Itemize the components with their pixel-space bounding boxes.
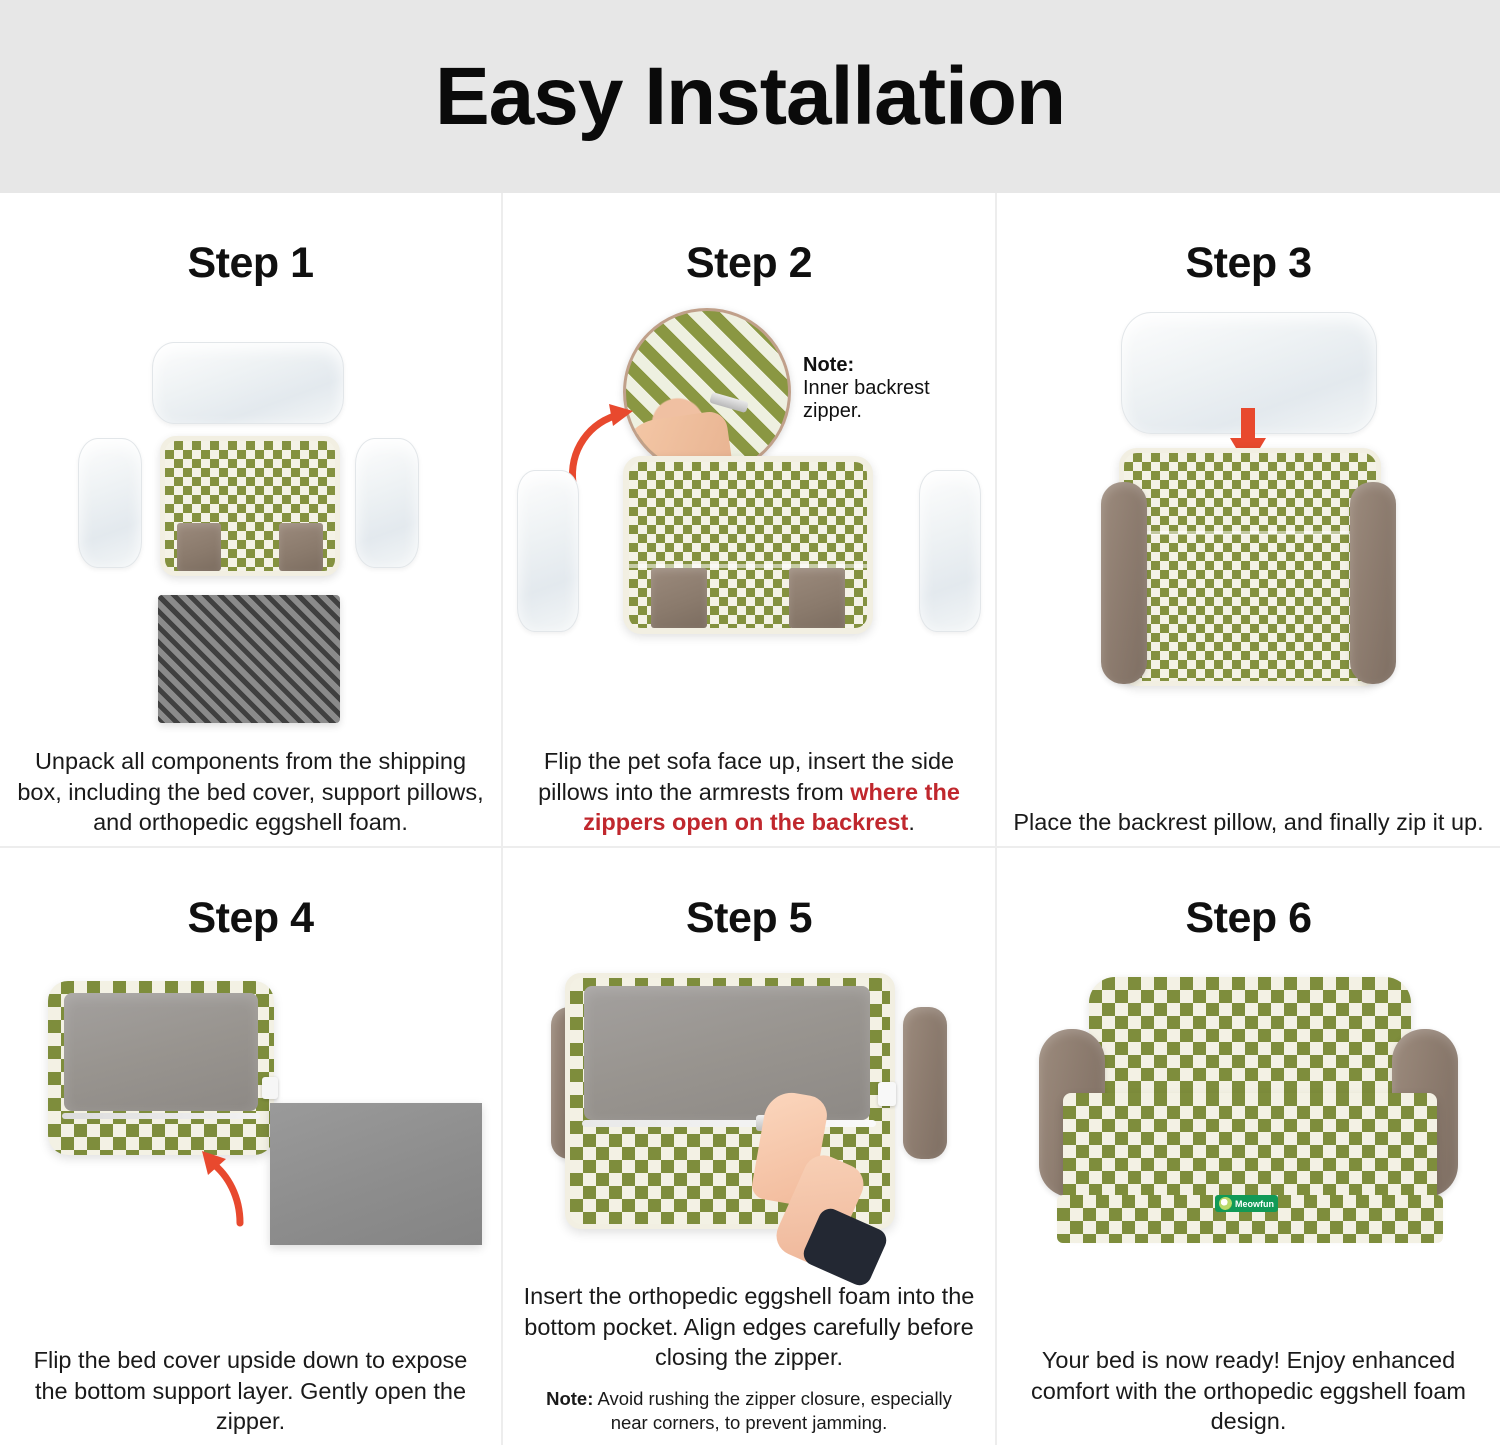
step-5-caption: Insert the orthopedic eggshell foam into…: [503, 1281, 995, 1381]
pocket-left: [651, 568, 707, 628]
step-5-note-label: Note:: [546, 1388, 593, 1409]
step-2-title: Step 2: [686, 239, 812, 288]
zipper-track: [582, 1120, 876, 1127]
step-1-illustration: [0, 288, 501, 746]
armrest-left: [1101, 482, 1147, 684]
step-1-caption: Unpack all components from the shipping …: [0, 746, 501, 846]
zipper-line: [62, 1113, 260, 1119]
step-4-caption: Flip the bed cover upside down to expose…: [0, 1345, 501, 1445]
step-5-title: Step 5: [686, 894, 812, 943]
step-4-title: Step 4: [187, 894, 313, 943]
note-callout-text: Note: Inner backrest zipper.: [803, 354, 993, 423]
armrest-right: [1350, 482, 1396, 684]
pocket-left: [177, 523, 221, 571]
backrest-pillow: [152, 342, 344, 424]
note-body: Inner backrest zipper.: [803, 377, 993, 423]
finished-backrest: [1089, 977, 1411, 1095]
side-pillow-right: [919, 470, 981, 632]
bottom-support-layer: [64, 993, 258, 1111]
bed-cover: [160, 436, 340, 576]
step-2-caption: Flip the pet sofa face up, insert the si…: [503, 746, 995, 846]
step-panel-6: Step 6 Meowfun Your bed is now ready! En…: [997, 848, 1500, 1445]
step-6-caption: Your bed is now ready! Enjoy enhanced co…: [997, 1345, 1500, 1445]
side-pillow-left: [78, 438, 142, 568]
step-5-subnote: Note: Avoid rushing the zipper closure, …: [503, 1381, 995, 1445]
step-panel-1: Step 1 Unpack all components from the sh…: [0, 193, 503, 848]
step-3-illustration: [997, 288, 1500, 807]
foam-top-surface: [584, 986, 870, 1120]
sofa-body: [1119, 448, 1381, 686]
step-3-caption: Place the backrest pillow, and finally z…: [997, 807, 1499, 846]
flip-arrow-icon: [200, 1149, 246, 1227]
step-panel-4: Step 4 Flip the bed cover upside down to…: [0, 848, 503, 1445]
page-title: Easy Installation: [435, 56, 1065, 138]
armrest-back-right: [903, 1007, 947, 1159]
step-5-illustration: [503, 943, 995, 1281]
step-panel-2: Step 2 Note: Inner backrest zipper.: [503, 193, 997, 848]
note-heading: Note:: [803, 354, 993, 377]
brand-logo-icon: [1219, 1197, 1232, 1210]
step-3-title: Step 3: [1185, 239, 1311, 288]
steps-grid: Step 1 Unpack all components from the sh…: [0, 193, 1500, 1445]
zipper-slider-inset: [709, 392, 749, 413]
step-6-title: Step 6: [1185, 894, 1311, 943]
zipper-pull-tab: [878, 1082, 896, 1106]
step-2-illustration: Note: Inner backrest zipper.: [503, 288, 995, 746]
zipper-detail-inset: [623, 308, 791, 476]
flipped-bed-cover: [48, 981, 274, 1155]
step-panel-3: Step 3 Place the backrest pillow, and fi…: [997, 193, 1500, 848]
eggshell-foam: [158, 595, 340, 723]
backrest-seam: [1124, 531, 1376, 535]
step-4-illustration: [0, 943, 501, 1345]
step-5-note-body: Avoid rushing the zipper closure, especi…: [593, 1388, 952, 1433]
step-panel-5: Step 5 Insert the orthopedic eggshell fo…: [503, 848, 997, 1445]
brand-name-label: Meowfun: [1235, 1199, 1274, 1209]
foam-slab: [270, 1103, 482, 1245]
pocket-right: [789, 568, 845, 628]
pet-sofa-face-up: [623, 456, 873, 634]
zipper-pull-tab: [262, 1077, 278, 1099]
side-pillow-right: [355, 438, 419, 568]
side-pillow-left: [517, 470, 579, 632]
step-2-caption-tail: .: [908, 809, 915, 835]
step-1-title: Step 1: [187, 239, 313, 288]
page-header: Easy Installation: [0, 0, 1500, 193]
brand-tag: Meowfun: [1215, 1195, 1278, 1212]
pocket-right: [279, 523, 323, 571]
infographic-page: Easy Installation Step 1 Unpac: [0, 0, 1500, 1445]
step-6-illustration: Meowfun: [997, 943, 1500, 1345]
